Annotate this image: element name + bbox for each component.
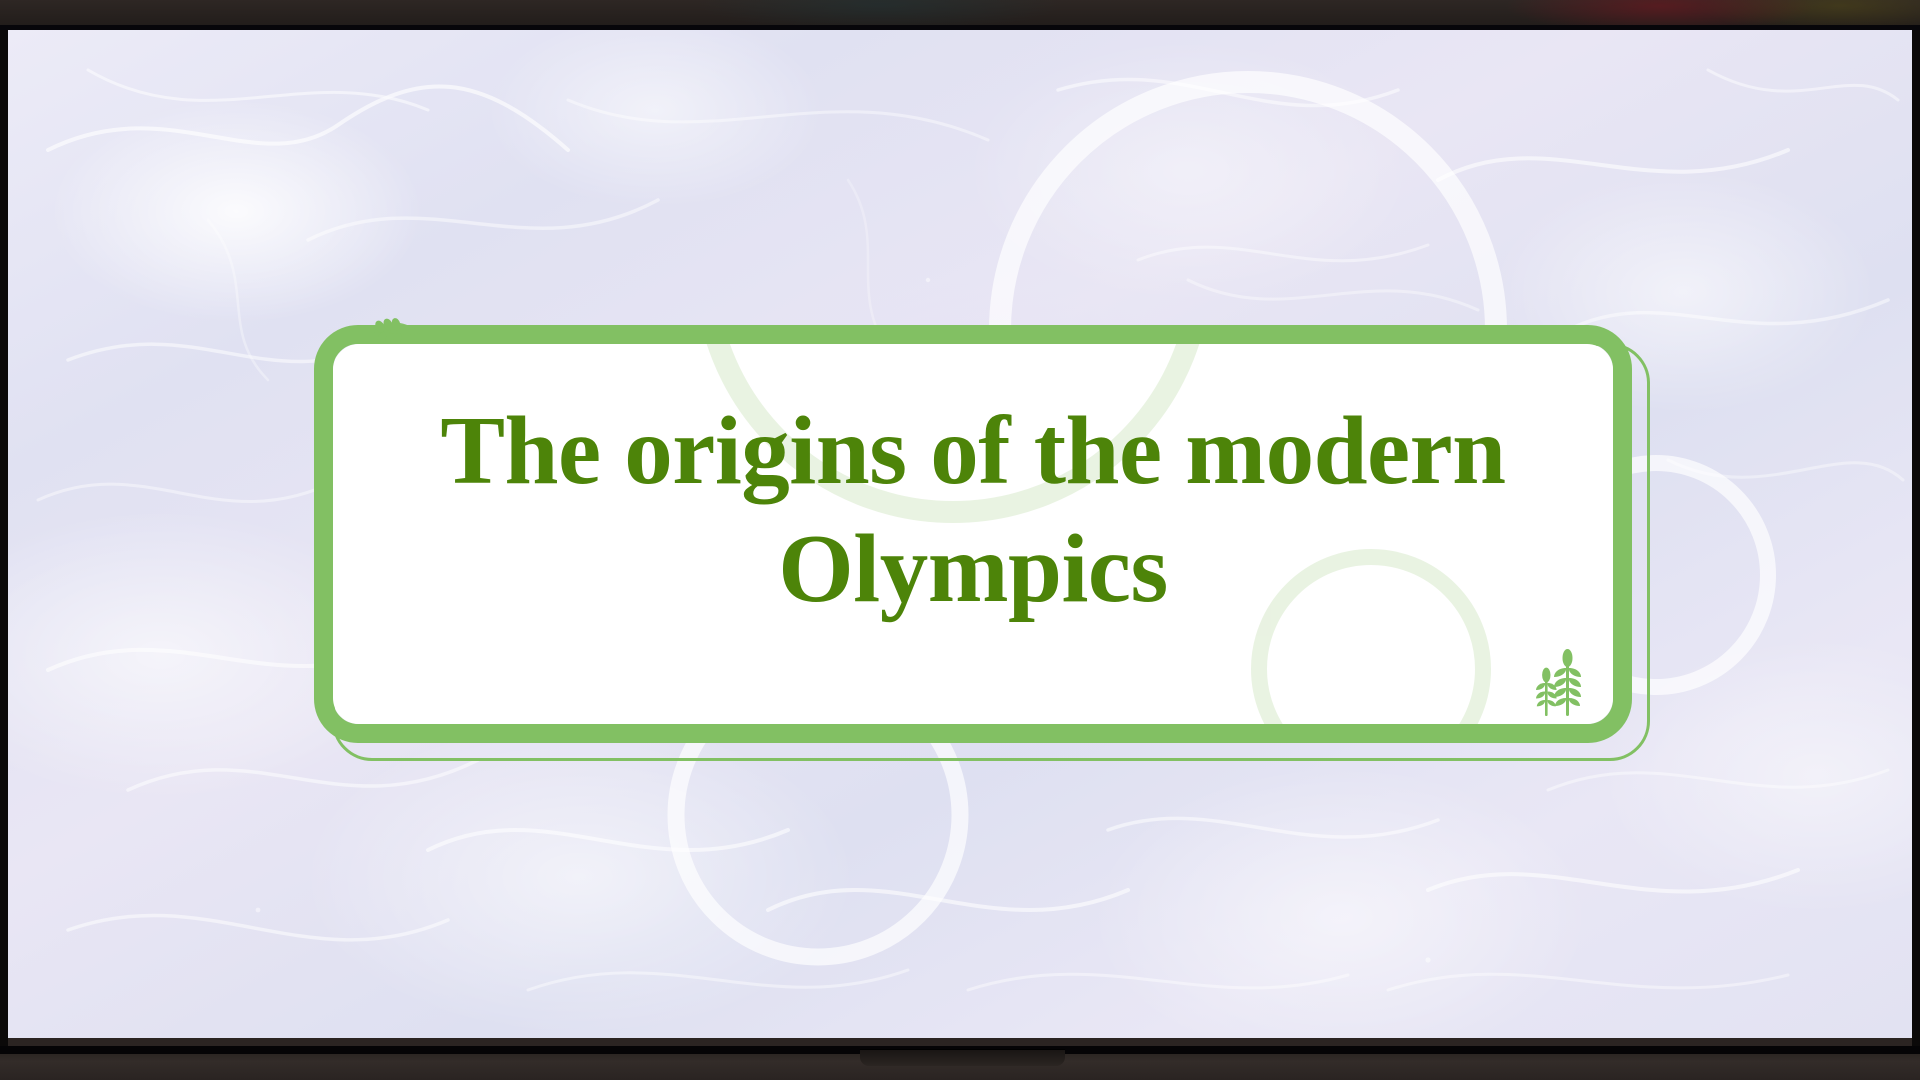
monitor-screen: The origins of the modern Olympics xyxy=(8,30,1912,1038)
slide-title: The origins of the modern Olympics xyxy=(333,392,1613,629)
monitor-bezel-top xyxy=(0,0,1920,30)
wheat-stalks-icon xyxy=(1529,644,1593,720)
monitor-stand-notch xyxy=(860,1050,1065,1066)
slide-title-line-1: The origins of the modern xyxy=(379,392,1567,510)
monitor-device: The origins of the modern Olympics xyxy=(0,0,1920,1080)
monitor-bezel-left xyxy=(0,0,8,1080)
presentation-slide: The origins of the modern Olympics xyxy=(8,30,1912,1038)
title-card: The origins of the modern Olympics xyxy=(333,344,1613,724)
title-frame: The origins of the modern Olympics xyxy=(314,325,1654,765)
slide-title-line-2: Olympics xyxy=(379,510,1567,628)
laurel-sprig-icon xyxy=(370,311,424,351)
monitor-bezel-right xyxy=(1912,0,1920,1080)
